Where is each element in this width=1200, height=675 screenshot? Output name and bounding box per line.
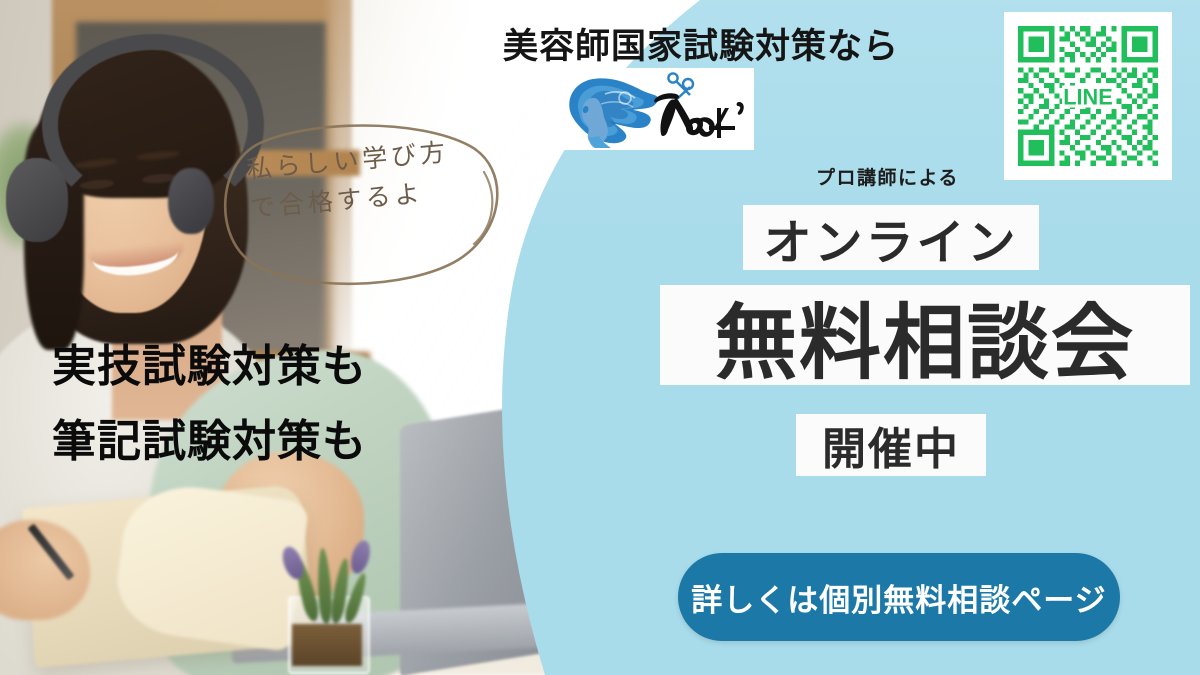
- photo-headphones-earcup-left: [6, 158, 68, 242]
- line-qr-code[interactable]: LINE: [1004, 12, 1172, 180]
- promo-box-status: 開催中: [796, 414, 986, 476]
- brand-logo-card: [549, 68, 754, 150]
- promo-sublabel: プロ講師による: [816, 163, 959, 190]
- banner-canvas: 美容師国家試験対策なら: [0, 0, 1200, 675]
- cta-button[interactable]: 詳しくは個別無料相談ページ: [678, 553, 1120, 641]
- qr-line-label: LINE: [1063, 84, 1112, 109]
- left-point-line-1: 実技試験対策も: [52, 330, 367, 394]
- photo-plant-soil: [292, 624, 362, 666]
- woman-with-flowing-hair-logo: [549, 68, 754, 150]
- promo-box-main-title: 無料相談会: [660, 285, 1190, 385]
- brand-wordmark: [654, 93, 744, 138]
- page-title: 美容師国家試験対策なら: [503, 18, 899, 69]
- promo-box-online: オンライン: [743, 205, 1039, 270]
- qr-code-graphic: LINE: [1013, 21, 1163, 171]
- left-point-line-2: 筆記試験対策も: [52, 405, 367, 469]
- handwritten-callout: 私らしい学び方 で合格するよ: [222, 118, 517, 298]
- photo-headphones-earcup-right: [168, 168, 214, 234]
